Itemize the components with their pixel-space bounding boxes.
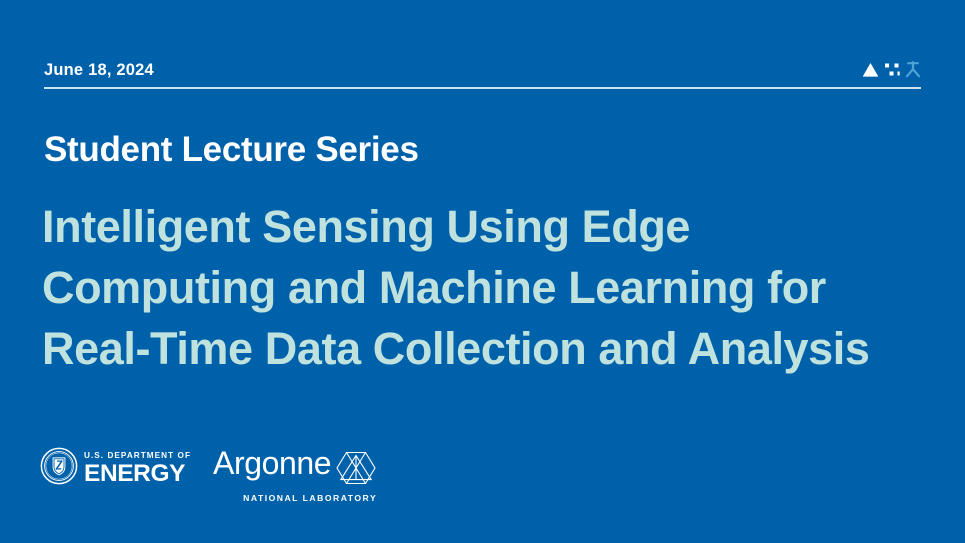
presentation-title-slide: June 18, 2024 <box>0 0 965 543</box>
doe-wordmark: U.S. DEPARTMENT OF ENERGY <box>84 451 191 486</box>
header-divider-rule <box>44 87 921 89</box>
logo-lockup: U.S. DEPARTMENT OF ENERGY Argonne <box>40 444 377 492</box>
slide-eyebrow-label: Student Lecture Series <box>44 128 419 172</box>
doe-seal-icon <box>40 447 78 490</box>
argonne-wordmark: Argonne <box>213 446 331 480</box>
four-dots-icon <box>884 62 900 82</box>
slide-date: June 18, 2024 <box>44 60 154 80</box>
slide-title: Intelligent Sensing Using Edge Computing… <box>42 196 922 379</box>
doe-department-line: U.S. DEPARTMENT OF <box>84 451 191 461</box>
argonne-logo: Argonne NATIONAL LAB <box>213 444 377 492</box>
tripod-antenna-icon <box>905 61 921 83</box>
doe-logo: U.S. DEPARTMENT OF ENERGY <box>40 448 191 488</box>
slide-header: June 18, 2024 <box>44 60 921 92</box>
argonne-triangle-mark-icon <box>335 449 377 492</box>
mountain-triangle-icon <box>862 62 879 82</box>
doe-energy-text: ENERGY <box>84 461 191 486</box>
header-icon-group <box>862 61 921 83</box>
argonne-subtitle: NATIONAL LABORATORY <box>213 493 377 504</box>
